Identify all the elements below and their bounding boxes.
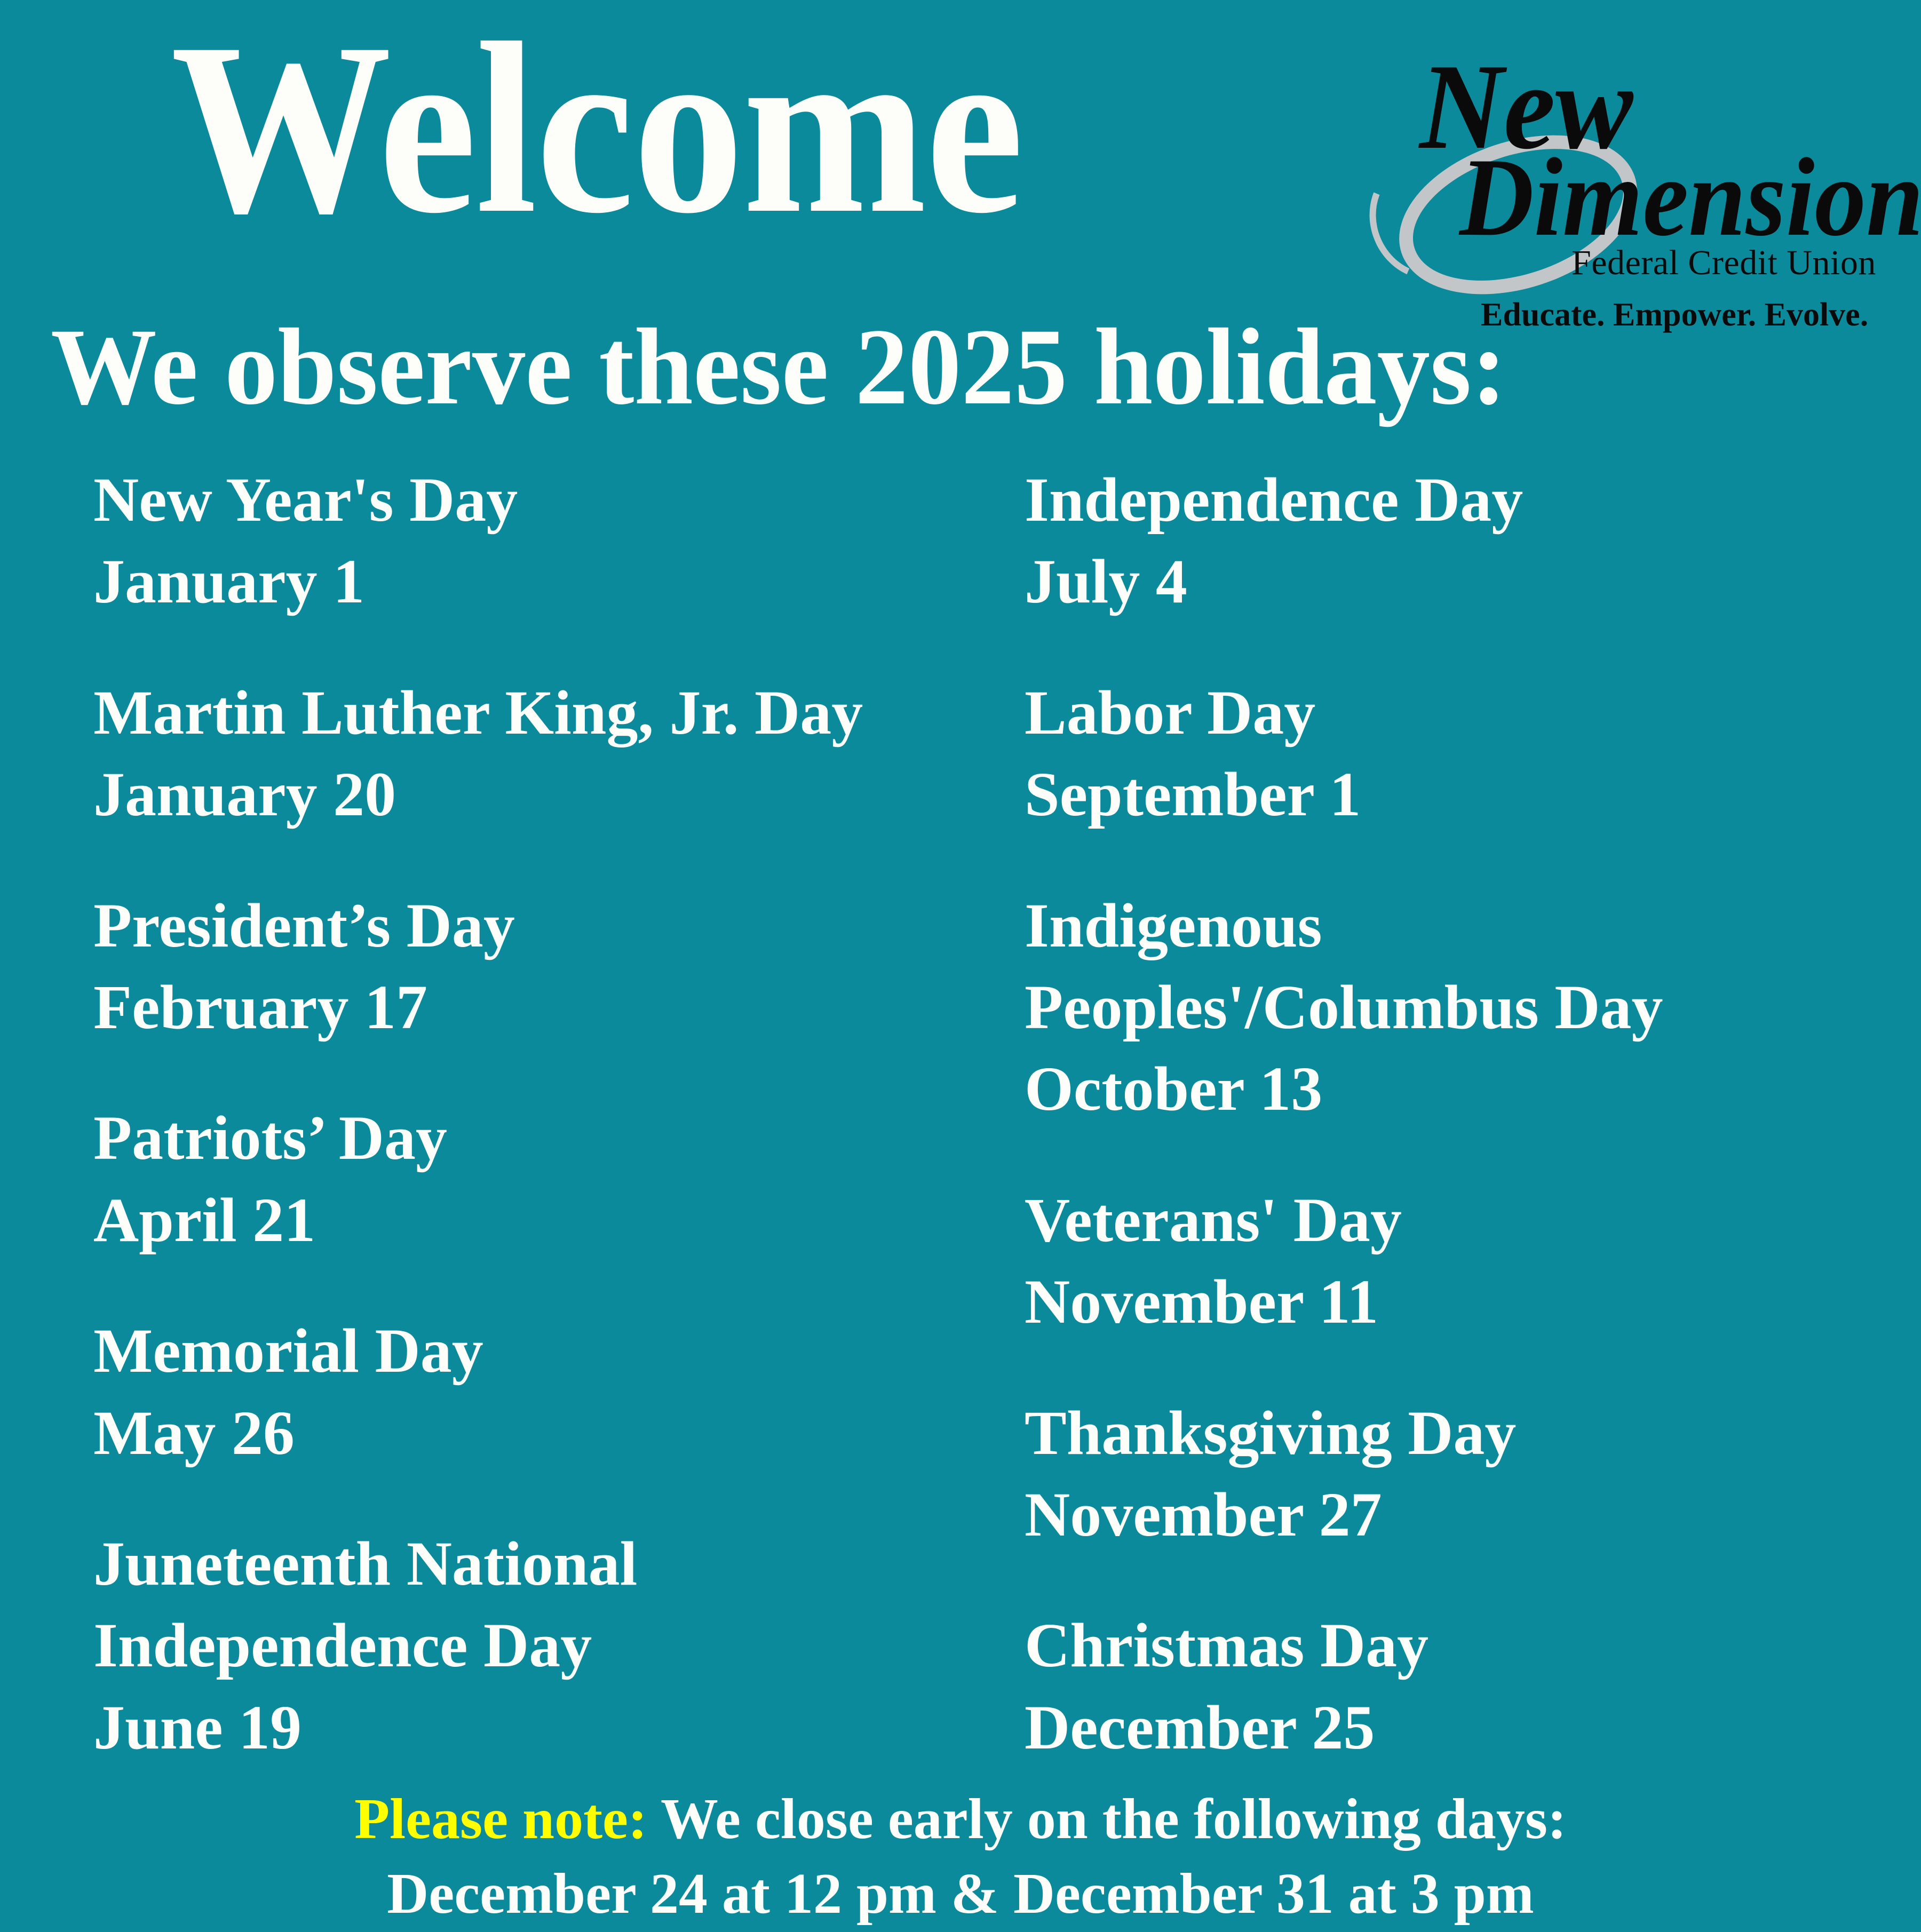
holiday-date: April 21 — [93, 1179, 1003, 1261]
holiday-date: November 11 — [1025, 1261, 1921, 1342]
holiday-date: November 27 — [1025, 1474, 1921, 1555]
logo-tagline: Educate. Empower. Evolve. — [1481, 296, 1868, 334]
holiday-name: Patriots’ Day — [93, 1097, 1003, 1179]
holiday-name: Veterans' Day — [1025, 1179, 1921, 1261]
holiday-date: October 13 — [1025, 1048, 1921, 1130]
holiday-item: Veterans' Day November 11 — [1025, 1179, 1921, 1343]
holiday-name: Christmas Day — [1025, 1604, 1921, 1686]
holiday-date: July 4 — [1025, 540, 1921, 622]
holiday-date: May 26 — [93, 1392, 1003, 1474]
holiday-item: Labor Day September 1 — [1025, 672, 1921, 836]
holiday-item: Memorial Day May 26 — [93, 1310, 1003, 1474]
holiday-notice-poster: Welcome New Dimensions Federal Credit Un… — [0, 0, 1921, 1921]
holiday-item: Thanksgiving Day November 27 — [1025, 1392, 1921, 1556]
holiday-date: February 17 — [93, 966, 1003, 1048]
page-subtitle: We observe these 2025 holidays: — [51, 312, 1507, 422]
holiday-item: New Year's Day January 1 — [93, 459, 1003, 623]
page-title: Welcome — [171, 5, 1023, 251]
holiday-date: December 25 — [1025, 1687, 1921, 1768]
holiday-date: January 20 — [93, 753, 1003, 835]
holiday-name: Juneteenth National Independence Day — [93, 1523, 867, 1687]
holiday-column-left: New Year's Day January 1 Martin Luther K… — [0, 459, 1003, 1817]
holiday-name: Labor Day — [1025, 672, 1921, 753]
holiday-item: President’s Day February 17 — [93, 885, 1003, 1048]
holiday-list: New Year's Day January 1 Martin Luther K… — [0, 459, 1921, 1817]
holiday-item: Indigenous Peoples'/Columbus Day October… — [1025, 885, 1921, 1130]
holiday-name: President’s Day — [93, 885, 1003, 966]
holiday-column-right: Independence Day July 4 Labor Day Septem… — [1003, 459, 1921, 1817]
holiday-name: Indigenous Peoples'/Columbus Day — [1025, 885, 1692, 1048]
holiday-name: Memorial Day — [93, 1310, 1003, 1392]
holiday-name: Martin Luther King, Jr. Day — [93, 672, 1003, 753]
holiday-date: January 1 — [93, 540, 1003, 622]
holiday-item: Independence Day July 4 — [1025, 459, 1921, 623]
logo-word-dimensions: Dimensions — [1459, 141, 1921, 253]
credit-union-logo: New Dimensions Federal Credit Union Educ… — [1366, 27, 1900, 325]
please-note-text: We close early on the following days: — [647, 1787, 1567, 1851]
logo-institution-name: Federal Credit Union — [1571, 243, 1876, 283]
holiday-item: Christmas Day December 25 — [1025, 1604, 1921, 1768]
holiday-item: Juneteenth National Independence Day Jun… — [93, 1523, 1003, 1768]
holiday-date: June 19 — [93, 1687, 1003, 1768]
early-close-note-line1: Please note: We close early on the follo… — [0, 1782, 1921, 1857]
holiday-date: September 1 — [1025, 753, 1921, 835]
holiday-item: Martin Luther King, Jr. Day January 20 — [93, 672, 1003, 836]
holiday-name: New Year's Day — [93, 459, 1003, 540]
please-note-label: Please note: — [354, 1787, 647, 1851]
holiday-name: Thanksgiving Day — [1025, 1392, 1921, 1474]
holiday-item: Patriots’ Day April 21 — [93, 1097, 1003, 1261]
early-close-note: Please note: We close early on the follo… — [0, 1782, 1921, 1932]
holiday-name: Independence Day — [1025, 459, 1921, 540]
